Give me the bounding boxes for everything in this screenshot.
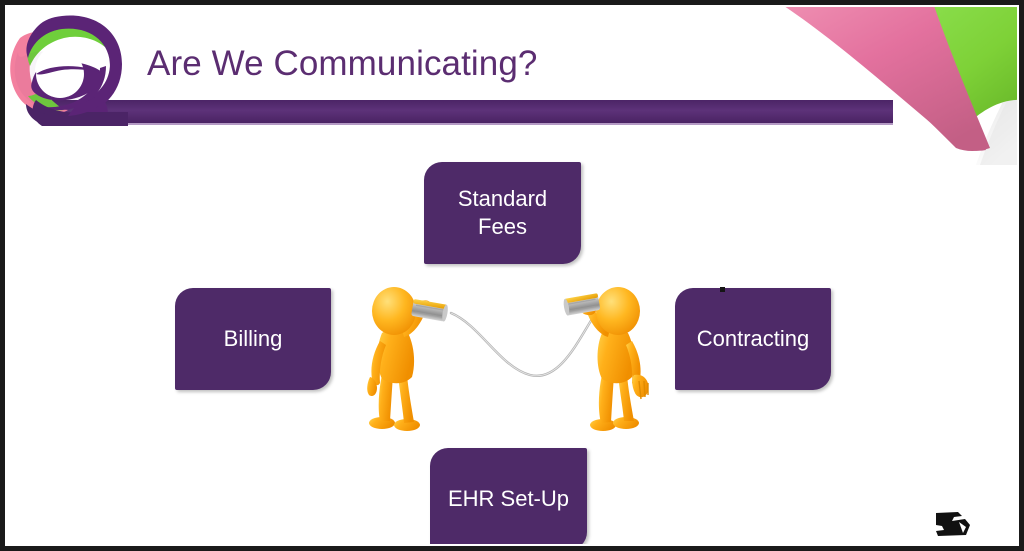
diagram-box-label: EHR Set-Up (448, 485, 569, 513)
label-line-2: Fees (478, 214, 527, 239)
diagram-box-standard-fees[interactable]: Standard Fees (424, 162, 581, 264)
corner-ribbon-decoration (780, 0, 1024, 165)
page-title: Are We Communicating? (147, 44, 538, 84)
stray-dot-mark (720, 287, 725, 292)
two-figures-tin-can-telephone-image (360, 275, 650, 443)
figure-left (367, 287, 449, 431)
company-swirl-logo (2, 8, 128, 126)
diagram-box-label: Contracting (697, 325, 810, 353)
diagram-box-ehr-setup[interactable]: EHR Set-Up (430, 448, 587, 550)
diagram-box-billing[interactable]: Billing (175, 288, 331, 390)
pointer-cursor-mark (932, 505, 978, 541)
header-accent-bar (48, 100, 893, 123)
diagram-box-label: Standard Fees (458, 185, 547, 241)
label-line-1: Standard (458, 186, 547, 211)
string-connector (451, 313, 592, 376)
figure-right (563, 287, 649, 431)
diagram-box-contracting[interactable]: Contracting (675, 288, 831, 390)
slide-canvas: Are We Communicating? Standard Fees Bill… (0, 0, 1024, 551)
diagram-box-label: Billing (224, 325, 283, 353)
